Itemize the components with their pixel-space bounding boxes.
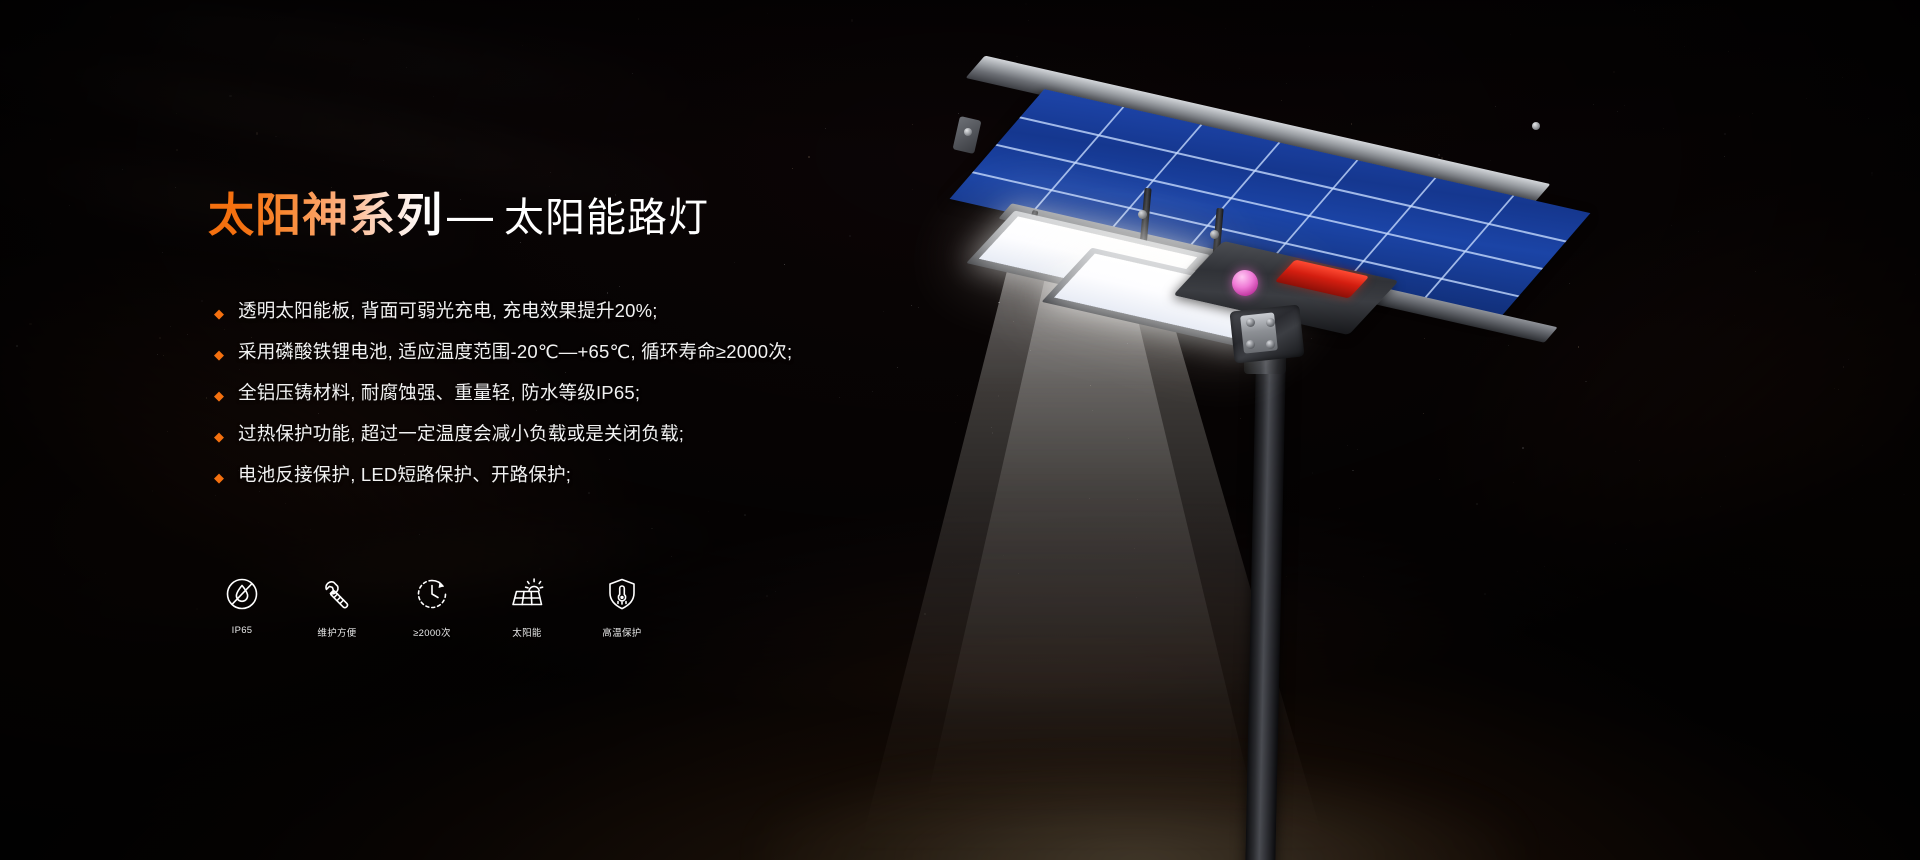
- feature-item-IP65: IP65: [212, 572, 272, 639]
- title-subtitle: 太阳能路灯: [504, 196, 709, 240]
- bullet-text: 透明太阳能板, 背面可弱光充电, 充电效果提升20%;: [238, 300, 658, 322]
- bullet-diamond-icon: ◆: [214, 304, 238, 324]
- bracket-bolt: [1266, 318, 1275, 327]
- title-brand: 太阳神系列: [208, 189, 443, 241]
- feature-bullet-list: ◆透明太阳能板, 背面可弱光充电, 充电效果提升20%;◆采用磷酸铁锂电池, 适…: [214, 300, 792, 505]
- title-dash: —: [447, 189, 494, 241]
- bullet-diamond-icon: ◆: [214, 345, 238, 365]
- feature-caption: IP65: [232, 625, 253, 636]
- feature-caption: ≥2000次: [413, 625, 451, 639]
- strut-bolt: [1210, 230, 1219, 239]
- feature-caption: 太阳能: [512, 625, 541, 639]
- feature-caption: 高温保护: [602, 625, 641, 639]
- feature-caption: 维护方便: [317, 625, 356, 639]
- page-title: 太阳神系列—太阳能路灯: [208, 192, 709, 238]
- strut-bolt: [1138, 210, 1147, 219]
- banner-stage: 太阳神系列—太阳能路灯 ◆透明太阳能板, 背面可弱光充电, 充电效果提升20%;…: [0, 0, 1920, 860]
- bullet-text: 过热保护功能, 超过一定温度会减小负载或是关闭负载;: [238, 423, 684, 445]
- bullet-text: 采用磷酸铁锂电池, 适应温度范围-20℃—+65℃, 循环寿命≥2000次;: [238, 341, 792, 363]
- feature-bullet-item: ◆全铝压铸材料, 耐腐蚀强、重量轻, 防水等级IP65;: [214, 382, 792, 423]
- bracket-bolt: [1266, 340, 1275, 349]
- bullet-diamond-icon: ◆: [214, 468, 238, 488]
- feature-bullet-item: ◆过热保护功能, 超过一定温度会减小负载或是关闭负载;: [214, 423, 792, 464]
- bullet-text: 电池反接保护, LED短路保护、开路保护;: [238, 464, 571, 486]
- feature-item-≥2000次: ≥2000次: [402, 572, 462, 639]
- bracket-bolt: [1246, 340, 1255, 349]
- feature-item-高温保护: 高温保护: [592, 572, 652, 639]
- product-image-solar-street-light: [880, 60, 1920, 860]
- lamp-head-assembly: [880, 60, 1920, 480]
- shield-thermometer-icon: [600, 572, 644, 616]
- bullet-diamond-icon: ◆: [214, 427, 238, 447]
- end-cap-bolt: [964, 128, 972, 136]
- bracket-bolt: [1246, 318, 1255, 327]
- feature-item-维护方便: 维护方便: [307, 572, 367, 639]
- solar-panel-icon: [505, 572, 549, 616]
- feature-bullet-item: ◆采用磷酸铁锂电池, 适应温度范围-20℃—+65℃, 循环寿命≥2000次;: [214, 341, 792, 382]
- feature-item-太阳能: 太阳能: [497, 572, 557, 639]
- end-cap-bolt: [1532, 122, 1540, 130]
- banner-copy: 太阳神系列—太阳能路灯 ◆透明太阳能板, 背面可弱光充电, 充电效果提升20%;…: [0, 0, 960, 860]
- feature-icon-row: IP65维护方便≥2000次太阳能高温保护: [212, 572, 652, 639]
- clock-cycle-icon: [410, 572, 454, 616]
- feature-bullet-item: ◆电池反接保护, LED短路保护、开路保护;: [214, 464, 792, 505]
- feature-bullet-item: ◆透明太阳能板, 背面可弱光充电, 充电效果提升20%;: [214, 300, 792, 341]
- bullet-text: 全铝压铸材料, 耐腐蚀强、重量轻, 防水等级IP65;: [238, 382, 640, 404]
- waterproof-ip65-icon: [220, 572, 264, 616]
- wrench-maintenance-icon: [315, 572, 359, 616]
- bullet-diamond-icon: ◆: [214, 386, 238, 406]
